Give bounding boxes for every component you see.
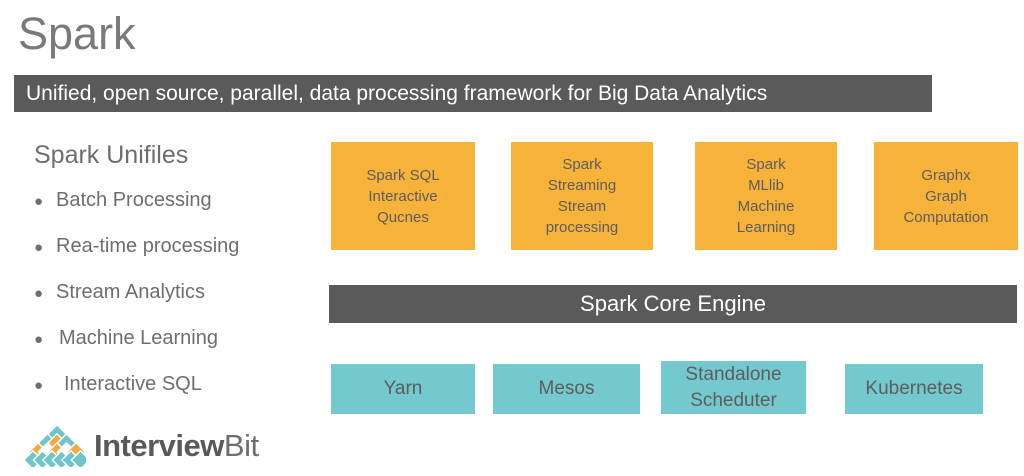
bullet-dot-icon: ● <box>34 190 56 214</box>
module-line: Stream <box>558 196 606 217</box>
cluster-box-mesos: Mesos <box>493 364 640 414</box>
list-item: ● Batch Processing <box>34 188 314 214</box>
list-item-label: Interactive SQL <box>56 372 202 396</box>
cluster-line: Scheduter <box>690 388 777 414</box>
module-line: Spark <box>562 154 601 175</box>
logo-word-bit: Bit <box>224 428 259 463</box>
slide-canvas: Spark Unified, open source, parallel, da… <box>0 0 1024 476</box>
left-panel: Spark Unifiles ● Batch Processing ● Rea-… <box>34 140 314 418</box>
bullet-dot-icon: ● <box>34 328 56 352</box>
module-box-spark-streaming: Spark Streaming Stream processing <box>511 142 653 250</box>
list-item: ● Machine Learning <box>34 326 314 352</box>
module-line: Computation <box>903 207 988 228</box>
subtitle-text: Unified, open source, parallel, data pro… <box>26 81 767 106</box>
list-item-label: Machine Learning <box>56 326 218 350</box>
subtitle-band: Unified, open source, parallel, data pro… <box>14 75 932 112</box>
list-item-label: Stream Analytics <box>56 280 205 304</box>
interviewbit-logo: InterviewBit <box>24 423 264 469</box>
cluster-line: Kubernetes <box>865 376 962 402</box>
cluster-box-yarn: Yarn <box>331 364 475 414</box>
core-engine-bar: Spark Core Engine <box>329 285 1017 323</box>
interviewbit-diamond-mark-icon <box>24 425 86 467</box>
module-box-spark-mllib: Spark MLlib Machine Learning <box>695 142 837 250</box>
list-item-label: Rea-time processing <box>56 234 239 258</box>
module-line: MLlib <box>748 175 784 196</box>
left-panel-heading: Spark Unifiles <box>34 140 314 170</box>
cluster-box-kubernetes: Kubernetes <box>845 364 983 414</box>
logo-word-interview: Interview <box>94 428 224 463</box>
cluster-line: Standalone <box>685 362 781 388</box>
module-box-spark-sql: Spark SQL Interactive Qucnes <box>331 142 475 250</box>
core-engine-label: Spark Core Engine <box>580 291 766 317</box>
module-line: Learning <box>737 217 795 238</box>
bullet-dot-icon: ● <box>34 282 56 306</box>
module-line: Machine <box>738 196 795 217</box>
module-line: Interactive <box>368 186 437 207</box>
module-line: processing <box>546 217 619 238</box>
bullet-dot-icon: ● <box>34 236 56 260</box>
list-item-label: Batch Processing <box>56 188 212 212</box>
feature-list: ● Batch Processing ● Rea-time processing… <box>34 188 314 398</box>
cluster-line: Mesos <box>539 376 595 402</box>
list-item: ● Rea-time processing <box>34 234 314 260</box>
page-title: Spark <box>18 6 136 62</box>
module-line: Graph <box>925 186 967 207</box>
module-line: Spark <box>746 154 785 175</box>
list-item: ● Stream Analytics <box>34 280 314 306</box>
module-line: Qucnes <box>377 207 429 228</box>
interviewbit-wordmark: InterviewBit <box>94 429 259 463</box>
list-item: ● Interactive SQL <box>34 372 314 398</box>
module-line: Spark SQL <box>366 165 439 186</box>
bullet-dot-icon: ● <box>34 374 56 398</box>
module-line: Graphx <box>921 165 970 186</box>
module-box-graphx: Graphx Graph Computation <box>874 142 1018 250</box>
module-line: Streaming <box>548 175 616 196</box>
cluster-box-standalone-scheduler: Standalone Scheduter <box>661 361 806 414</box>
cluster-line: Yarn <box>384 376 423 402</box>
